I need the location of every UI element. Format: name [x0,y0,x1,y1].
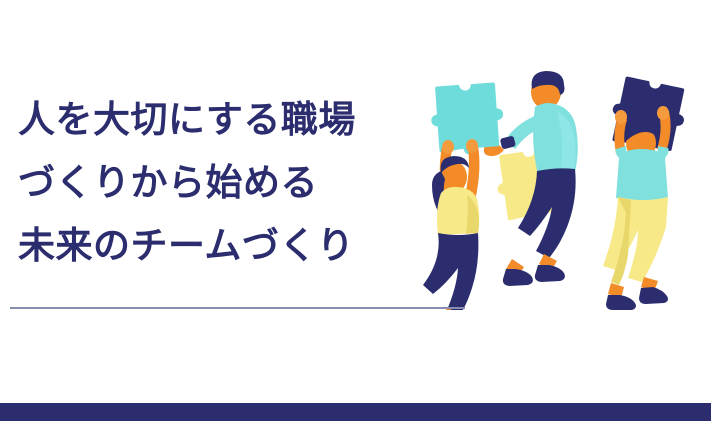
promotional-banner: 人を大切にする職場 づくりから始める 未来のチームづくり [0,0,711,430]
figure-right-person [603,75,690,310]
right-trousers [603,197,668,282]
center-shoe-rear [535,265,565,282]
right-hand-left [615,110,627,124]
center-shoe-front [503,269,533,286]
headline-block: 人を大切にする職場 づくりから始める 未来のチームづくり [18,88,448,277]
figure-center-man [484,71,578,286]
right-shoe-rear [639,287,668,304]
teamwork-puzzle-illustration [415,55,711,310]
right-hand-right [657,106,669,120]
headline-line-3: 未来のチームづくり [18,214,448,277]
headline-line-1: 人を大切にする職場 [18,88,448,151]
right-shoulder-right [657,146,669,159]
center-wristband [500,135,516,149]
right-shoe-front [606,295,636,310]
headline-line-2: づくりから始める [18,151,448,214]
ground-rule-divider [10,307,465,309]
bottom-navy-band [0,403,711,421]
left-hand-near [466,139,478,153]
